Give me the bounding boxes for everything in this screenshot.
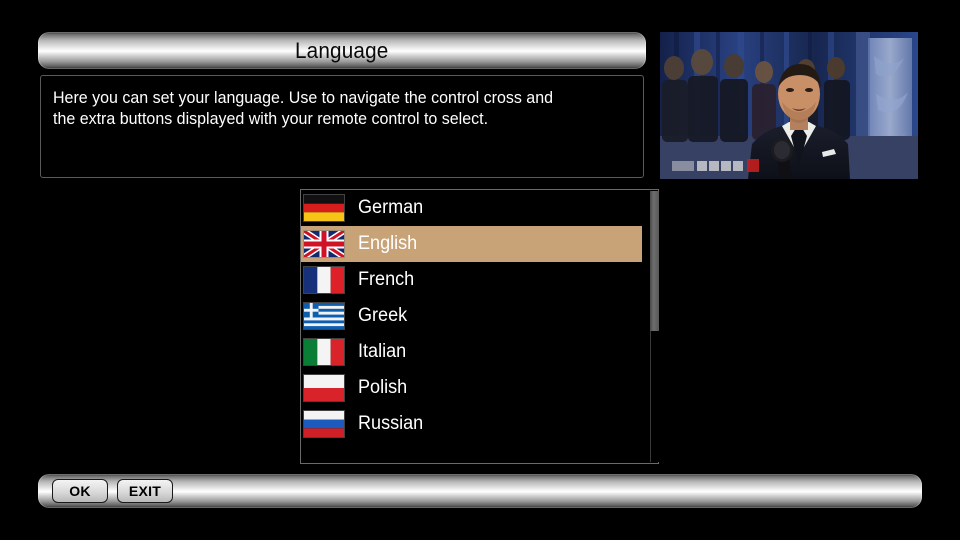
flag-fr-icon [304, 267, 344, 293]
list-item-selected[interactable]: English [301, 226, 642, 262]
flag-pl-icon [304, 375, 344, 401]
list-item-label: French [358, 269, 414, 291]
list-item[interactable]: French [301, 262, 642, 298]
flag-ru-icon [304, 411, 344, 437]
list-item-label: German [358, 197, 423, 219]
list-item-label: English [358, 233, 417, 255]
list-item[interactable]: Russian [301, 406, 642, 442]
video-frame-icon [660, 32, 918, 179]
description-panel: Here you can set your language. Use to n… [40, 75, 644, 178]
page-title: Language [295, 38, 389, 64]
language-list-panel: German English [300, 189, 659, 464]
tv-settings-screen: Language Here you can set your language.… [0, 0, 960, 540]
list-scrollbar-thumb[interactable] [650, 191, 659, 331]
list-item[interactable]: Greek [301, 298, 642, 334]
language-list: German English [301, 190, 642, 442]
list-item-label: Italian [358, 341, 406, 363]
flag-it-icon [304, 339, 344, 365]
ok-button[interactable]: OK [52, 479, 108, 503]
list-item[interactable]: Polish [301, 370, 642, 406]
list-item[interactable]: German [301, 190, 642, 226]
list-item-label: Polish [358, 377, 407, 399]
exit-button[interactable]: EXIT [117, 479, 173, 503]
list-item-label: Greek [358, 305, 407, 327]
flag-gr-icon [304, 303, 344, 329]
title-bar: Language [38, 32, 646, 69]
list-item[interactable]: Italian [301, 334, 642, 370]
video-preview[interactable] [660, 32, 918, 179]
description-text: Here you can set your language. Use to n… [53, 88, 612, 130]
flag-gb-icon [304, 231, 344, 257]
flag-de-icon [304, 195, 344, 221]
list-item-label: Russian [358, 413, 423, 435]
footer-bar: OK EXIT [38, 474, 922, 508]
